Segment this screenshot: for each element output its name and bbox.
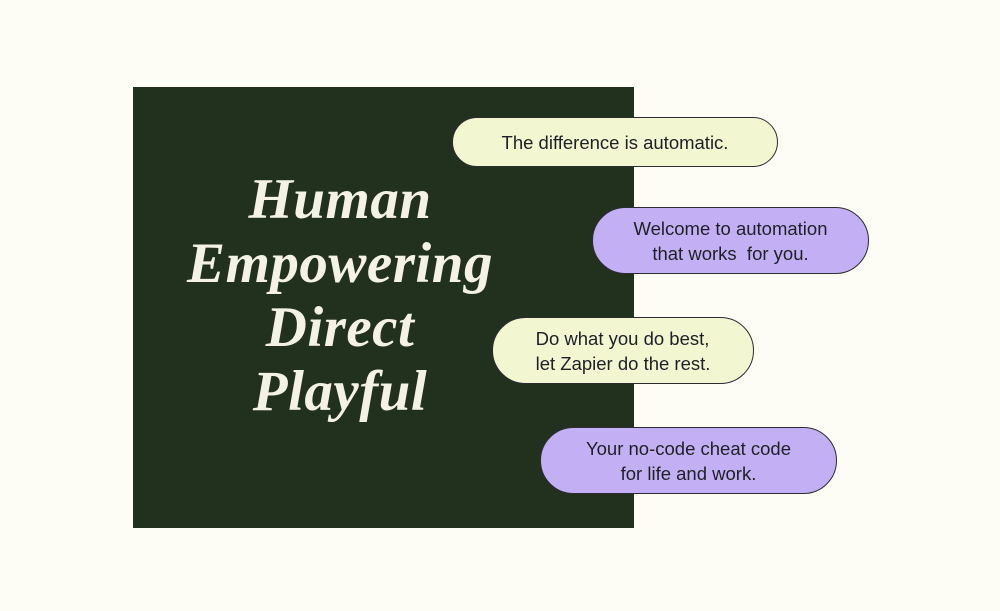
tagline-pill-do-what-you-do-best-text: Do what you do best, let Zapier do the r… — [536, 326, 711, 376]
tagline-pill-difference: The difference is automatic. — [452, 117, 778, 167]
slide-canvas: Human Empowering Direct Playful The diff… — [0, 0, 1000, 611]
tagline-pill-no-code-cheat-code-text: Your no-code cheat code for life and wor… — [586, 436, 791, 486]
tagline-pill-welcome-text: Welcome to automation that works for you… — [633, 216, 827, 266]
tagline-pill-difference-text: The difference is automatic. — [502, 130, 729, 155]
tagline-pill-no-code-cheat-code: Your no-code cheat code for life and wor… — [540, 427, 837, 494]
tagline-pill-welcome: Welcome to automation that works for you… — [592, 207, 869, 274]
tagline-pill-do-what-you-do-best: Do what you do best, let Zapier do the r… — [492, 317, 754, 384]
